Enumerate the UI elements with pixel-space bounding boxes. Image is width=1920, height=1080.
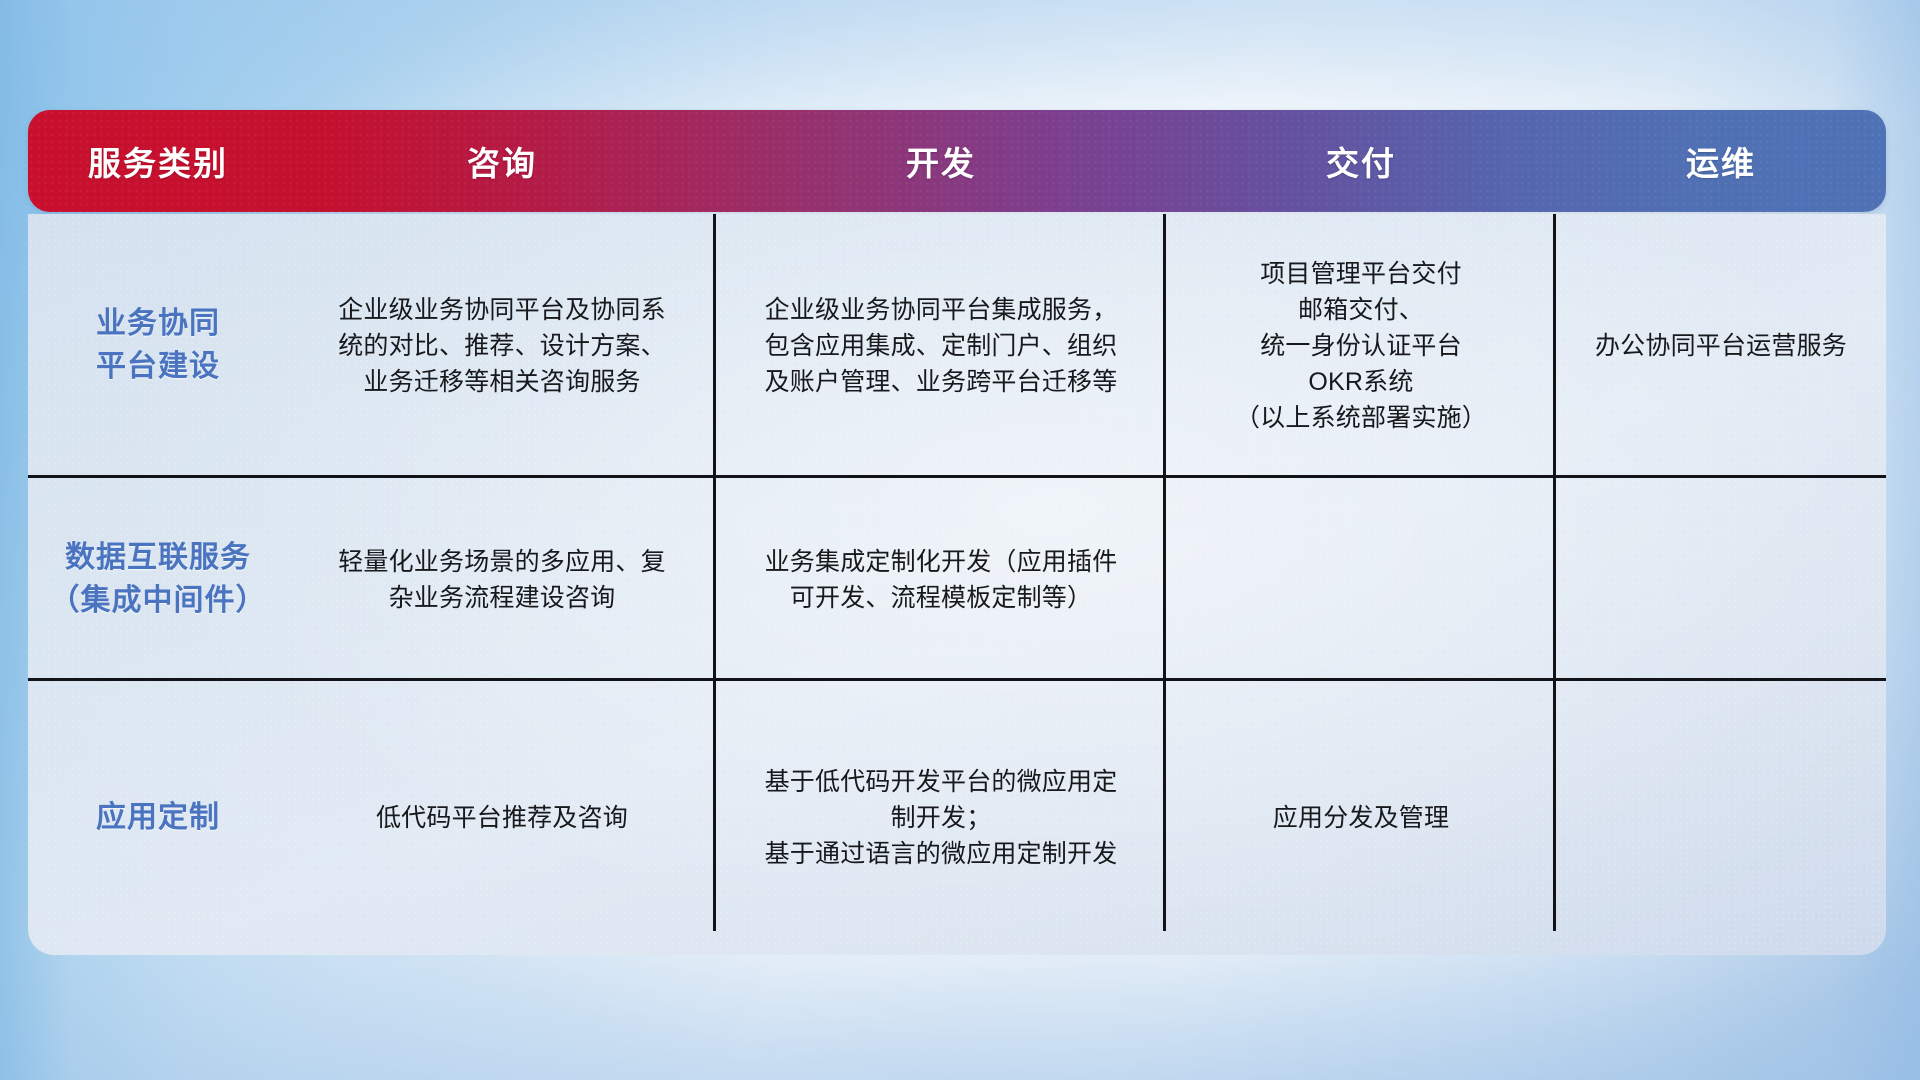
table-header-cell-delivery: 交付 xyxy=(1166,137,1556,185)
cell-text: 项目管理平台交付 邮箱交付、 统一身份认证平台 OKR系统 （以上系统部署实施） xyxy=(1235,256,1487,436)
cell-operations xyxy=(1556,681,1886,955)
cell-consulting: 企业级业务协同平台及协同系 统的对比、推荐、设计方案、 业务迁移等相关咨询服务 xyxy=(288,214,716,478)
cell-consulting: 轻量化业务场景的多应用、复 杂业务流程建设咨询 xyxy=(288,478,716,681)
cell-text: 企业级业务协同平台及协同系 统的对比、推荐、设计方案、 业务迁移等相关咨询服务 xyxy=(338,292,666,400)
cell-delivery: 应用分发及管理 xyxy=(1166,681,1556,955)
slide-canvas: 服务类别 咨询 开发 交付 运维 业务协同 平台建设 企业级业务协同平台及协同系… xyxy=(0,0,1920,1080)
cell-development: 基于低代码开发平台的微应用定 制开发； 基于通过语言的微应用定制开发 xyxy=(716,681,1166,955)
cell-operations: 办公协同平台运营服务 xyxy=(1556,214,1886,478)
cell-development: 业务集成定制化开发（应用插件 可开发、流程模板定制等） xyxy=(716,478,1166,681)
category-label: 应用定制 xyxy=(96,797,220,840)
table-body: 业务协同 平台建设 企业级业务协同平台及协同系 统的对比、推荐、设计方案、 业务… xyxy=(28,214,1886,955)
table-header-cell-category: 服务类别 xyxy=(28,137,288,185)
row-category-cell: 业务协同 平台建设 xyxy=(28,214,288,478)
cell-text: 办公协同平台运营服务 xyxy=(1595,328,1847,364)
row-category-cell: 数据互联服务 （集成中间件） xyxy=(28,478,288,681)
cell-text: 业务集成定制化开发（应用插件 可开发、流程模板定制等） xyxy=(765,544,1118,616)
cell-text: 应用分发及管理 xyxy=(1273,800,1449,836)
cell-delivery xyxy=(1166,478,1556,681)
cell-development: 企业级业务协同平台集成服务， 包含应用集成、定制门户、组织 及账户管理、业务跨平… xyxy=(716,214,1166,478)
table-row: 数据互联服务 （集成中间件） 轻量化业务场景的多应用、复 杂业务流程建设咨询 业… xyxy=(28,478,1886,681)
row-category-cell: 应用定制 xyxy=(28,681,288,955)
table-header-cell-development: 开发 xyxy=(716,137,1166,185)
cell-text: 企业级业务协同平台集成服务， 包含应用集成、定制门户、组织 及账户管理、业务跨平… xyxy=(765,292,1118,400)
table-header-row: 服务类别 咨询 开发 交付 运维 xyxy=(28,110,1886,212)
table-header-cell-consulting: 咨询 xyxy=(288,137,716,185)
category-label: 数据互联服务 （集成中间件） xyxy=(50,537,267,622)
cell-text: 基于低代码开发平台的微应用定 制开发； 基于通过语言的微应用定制开发 xyxy=(765,764,1118,872)
cell-operations xyxy=(1556,478,1886,681)
table-row: 应用定制 低代码平台推荐及咨询 基于低代码开发平台的微应用定 制开发； 基于通过… xyxy=(28,681,1886,955)
cell-delivery: 项目管理平台交付 邮箱交付、 统一身份认证平台 OKR系统 （以上系统部署实施） xyxy=(1166,214,1556,478)
cell-text: 低代码平台推荐及咨询 xyxy=(376,800,628,836)
category-label: 业务协同 平台建设 xyxy=(96,303,220,388)
table-row: 业务协同 平台建设 企业级业务协同平台及协同系 统的对比、推荐、设计方案、 业务… xyxy=(28,214,1886,478)
cell-consulting: 低代码平台推荐及咨询 xyxy=(288,681,716,955)
services-matrix-table: 服务类别 咨询 开发 交付 运维 业务协同 平台建设 企业级业务协同平台及协同系… xyxy=(28,110,1886,955)
cell-text: 轻量化业务场景的多应用、复 杂业务流程建设咨询 xyxy=(338,544,666,616)
table-header-cell-operations: 运维 xyxy=(1556,137,1886,185)
